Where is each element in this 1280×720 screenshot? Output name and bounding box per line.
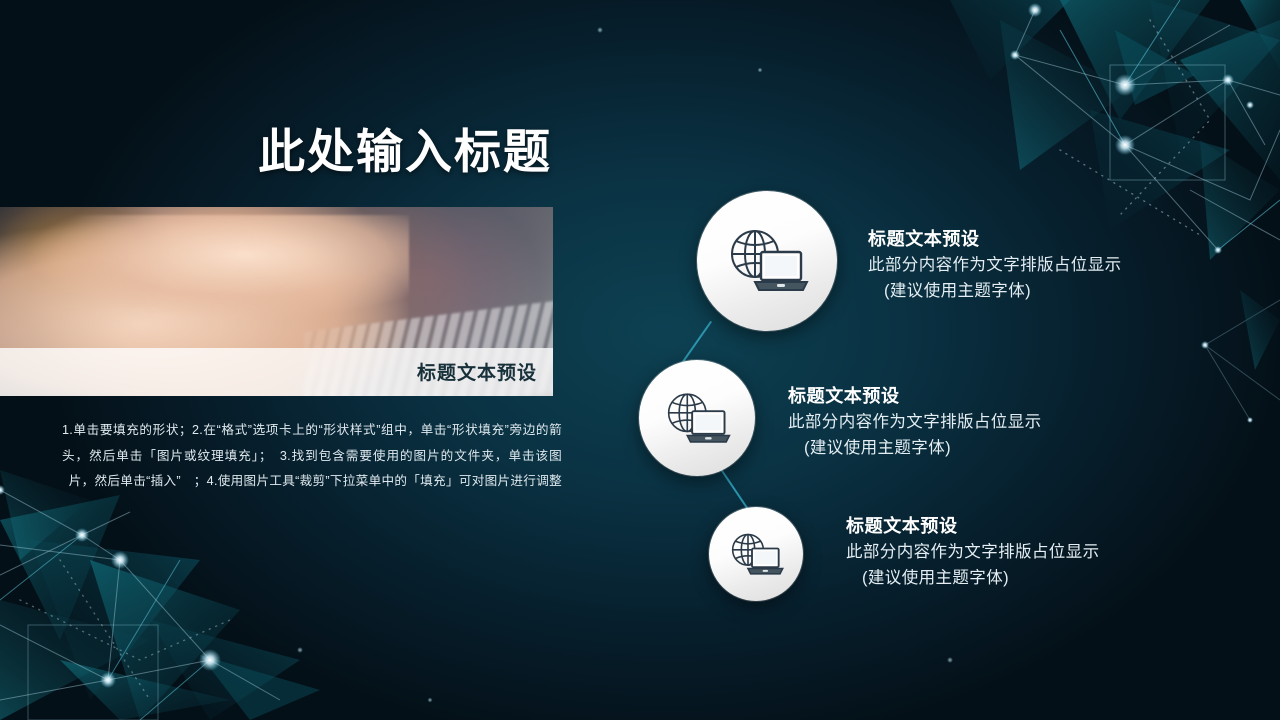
feature-text-block-2: 标题文本预设 此部分内容作为文字排版占位显示 (建议使用主题字体)	[788, 383, 1042, 462]
bg-cluster-bottom-left	[0, 470, 320, 720]
body-paragraph: 1.单击要填充的形状；2.在“格式”选项卡上的“形状样式”组中，单击“形状填充”…	[62, 418, 562, 495]
feature-line-1: 此部分内容作为文字排版占位显示	[788, 409, 1042, 435]
globe-laptop-icon	[663, 390, 731, 447]
bg-cluster-top-right	[950, 0, 1280, 260]
globe-laptop-icon	[725, 226, 809, 296]
laptop-shape	[748, 548, 783, 573]
feature-line-1: 此部分内容作为文字排版占位显示	[846, 539, 1100, 565]
feature-heading: 标题文本预设	[788, 383, 1042, 409]
feature-line-2: (建议使用主题字体)	[846, 565, 1100, 591]
feature-circle-3[interactable]	[709, 507, 803, 601]
feature-text-block-1: 标题文本预设 此部分内容作为文字排版占位显示 (建议使用主题字体)	[868, 226, 1122, 305]
laptop-shape	[755, 252, 807, 290]
page-title: 此处输入标题	[258, 126, 552, 179]
feature-line-2: (建议使用主题字体)	[788, 435, 1042, 461]
feature-text-block-3: 标题文本预设 此部分内容作为文字排版占位显示 (建议使用主题字体)	[846, 513, 1100, 592]
feature-line-2: (建议使用主题字体)	[868, 278, 1122, 304]
globe-laptop-icon	[728, 531, 784, 578]
feature-line-1: 此部分内容作为文字排版占位显示	[868, 252, 1122, 278]
bg-cluster-right-middle	[1201, 290, 1280, 423]
feature-circle-2[interactable]	[639, 360, 755, 476]
feature-heading: 标题文本预设	[846, 513, 1100, 539]
laptop-shape	[687, 411, 729, 442]
feature-circle-1[interactable]	[697, 191, 837, 331]
photo-caption-text: 标题文本预设	[417, 358, 537, 385]
presentation-slide: 此处输入标题 标题文本预设 1.单击要填充的形状；2.在“格式”选项卡上的“形状…	[0, 0, 1280, 720]
feature-heading: 标题文本预设	[868, 226, 1122, 252]
photo-card: 标题文本预设	[0, 207, 553, 396]
